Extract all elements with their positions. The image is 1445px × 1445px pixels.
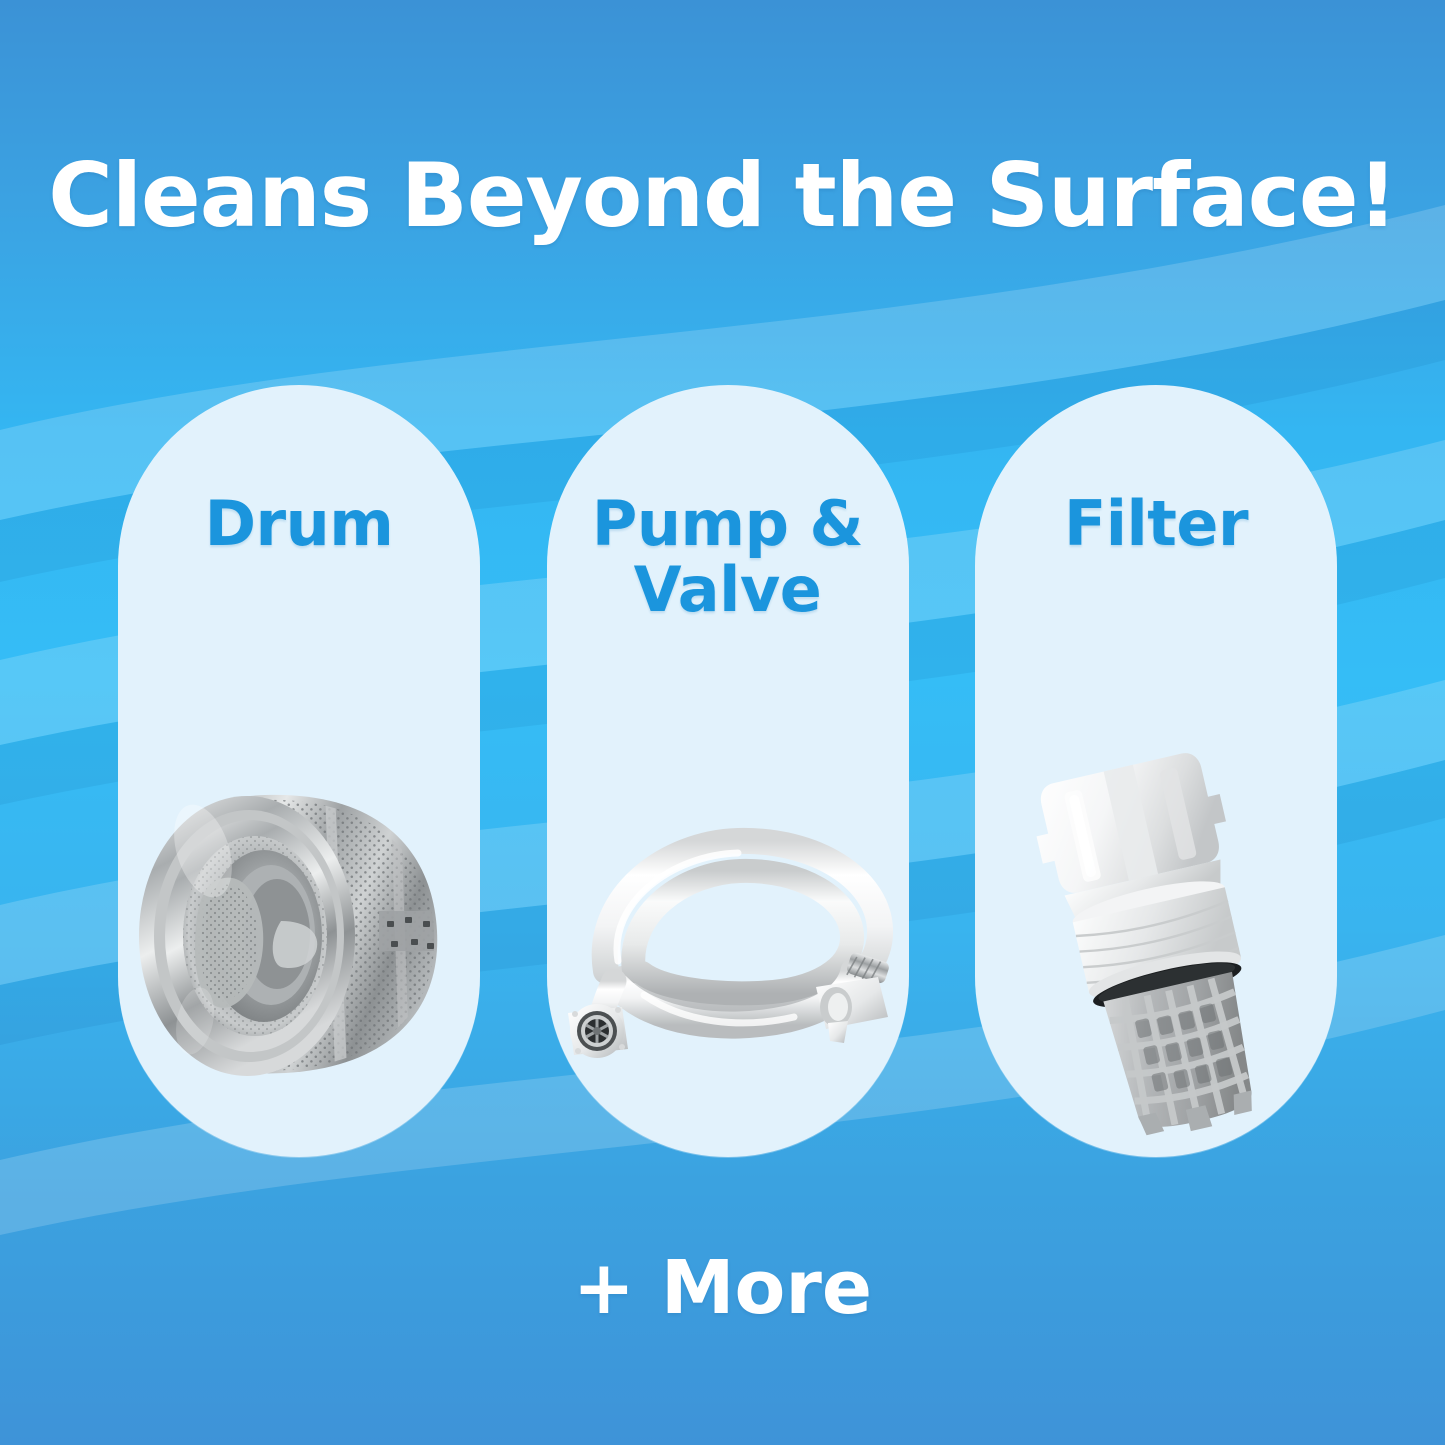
feature-card-row: Drum <box>118 385 1337 1157</box>
poster-canvas: Cleans Beyond the Surface! Drum <box>0 0 1445 1445</box>
page-title: Cleans Beyond the Surface! <box>0 150 1445 242</box>
more-callout: +More <box>0 1245 1445 1331</box>
feature-card-filter[interactable]: Filter <box>975 385 1337 1157</box>
plus-icon: + <box>573 1245 635 1331</box>
feature-card-pump-valve[interactable]: Pump & Valve <box>547 385 909 1157</box>
feature-card-drum-label-line1: Drum <box>205 487 394 560</box>
feature-card-filter-label-line1: Filter <box>1064 487 1248 560</box>
hose-valve-connector <box>568 1004 628 1058</box>
inlet-hose-image <box>547 715 909 1157</box>
washing-machine-drum-image <box>118 715 480 1157</box>
feature-card-filter-label: Filter <box>975 491 1337 557</box>
feature-card-pump-valve-label: Pump & Valve <box>547 491 909 622</box>
feature-card-pump-valve-label-line2: Valve <box>634 553 822 626</box>
more-label: More <box>661 1245 872 1331</box>
feature-card-drum[interactable]: Drum <box>118 385 480 1157</box>
feature-card-drum-label: Drum <box>118 491 480 557</box>
feature-card-pump-valve-label-line1: Pump & <box>592 487 863 560</box>
drain-pump-filter-image <box>975 715 1337 1157</box>
